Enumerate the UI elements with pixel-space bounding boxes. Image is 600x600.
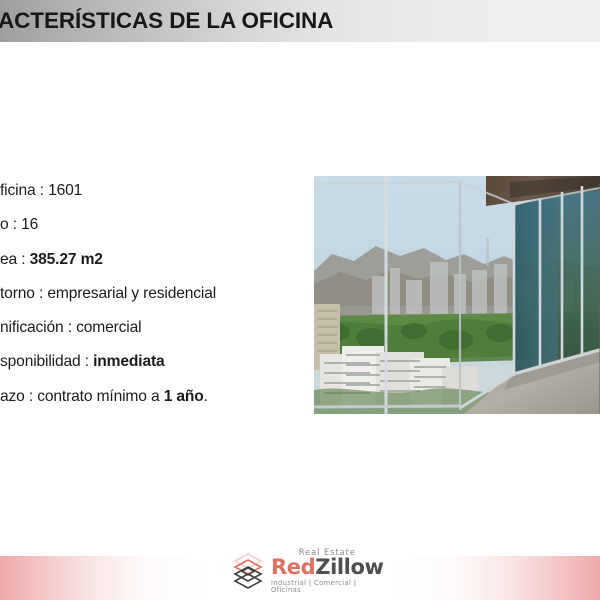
page-title: ACTERÍSTICAS DE LA OFICINA — [0, 6, 333, 36]
feature-label: torno : — [0, 285, 47, 302]
feature-value: 385.27 m2 — [30, 251, 103, 268]
feature-label: o : — [0, 216, 21, 233]
feature-value: 1601 — [48, 182, 82, 199]
logo-word-dark: Zillow — [315, 555, 383, 579]
logo-tagline-bottom: Industrial | Comercial | Oficinas — [271, 580, 384, 594]
list-item: torno : empresarial y residencial — [0, 284, 300, 318]
office-features-list: ficina : 1601 o : 16 ea : 385.27 m2 torn… — [0, 181, 300, 421]
slide-canvas: ACTERÍSTICAS DE LA OFICINA ficina : 1601… — [0, 0, 600, 600]
stacked-diamonds-icon — [228, 551, 268, 591]
feature-value: inmediata — [93, 353, 164, 370]
feature-value: 1 año — [164, 388, 204, 405]
office-photo-illustration — [314, 176, 600, 414]
redzillow-logo: Real Estate RedZillow Industrial | Comer… — [228, 549, 376, 593]
list-item: sponibilidad : inmediata — [0, 352, 300, 386]
list-item: nificación : comercial — [0, 318, 300, 352]
feature-label: ea : — [0, 251, 30, 268]
list-item: o : 16 — [0, 215, 300, 249]
logo-text-block: Real Estate RedZillow Industrial | Comer… — [271, 548, 384, 594]
logo-word-red: Red — [271, 555, 315, 579]
feature-label: sponibilidad : — [0, 353, 93, 370]
list-item: azo : contrato mínimo a 1 año. — [0, 387, 300, 421]
corner-decoration-left — [0, 556, 210, 600]
feature-label: azo : contrato mínimo a — [0, 388, 164, 405]
list-item: ficina : 1601 — [0, 181, 300, 215]
feature-value: 16 — [21, 216, 38, 233]
corner-decoration-right — [390, 556, 600, 600]
feature-label: nificación : — [0, 319, 76, 336]
list-item: ea : 385.27 m2 — [0, 250, 300, 284]
feature-suffix: . — [204, 388, 208, 405]
logo-wordmark: RedZillow — [271, 557, 384, 578]
feature-value: comercial — [76, 319, 141, 336]
feature-value: empresarial y residencial — [47, 285, 216, 302]
office-photo — [314, 176, 600, 414]
slide-header-bar: ACTERÍSTICAS DE LA OFICINA — [0, 0, 600, 42]
feature-label: ficina : — [0, 182, 48, 199]
